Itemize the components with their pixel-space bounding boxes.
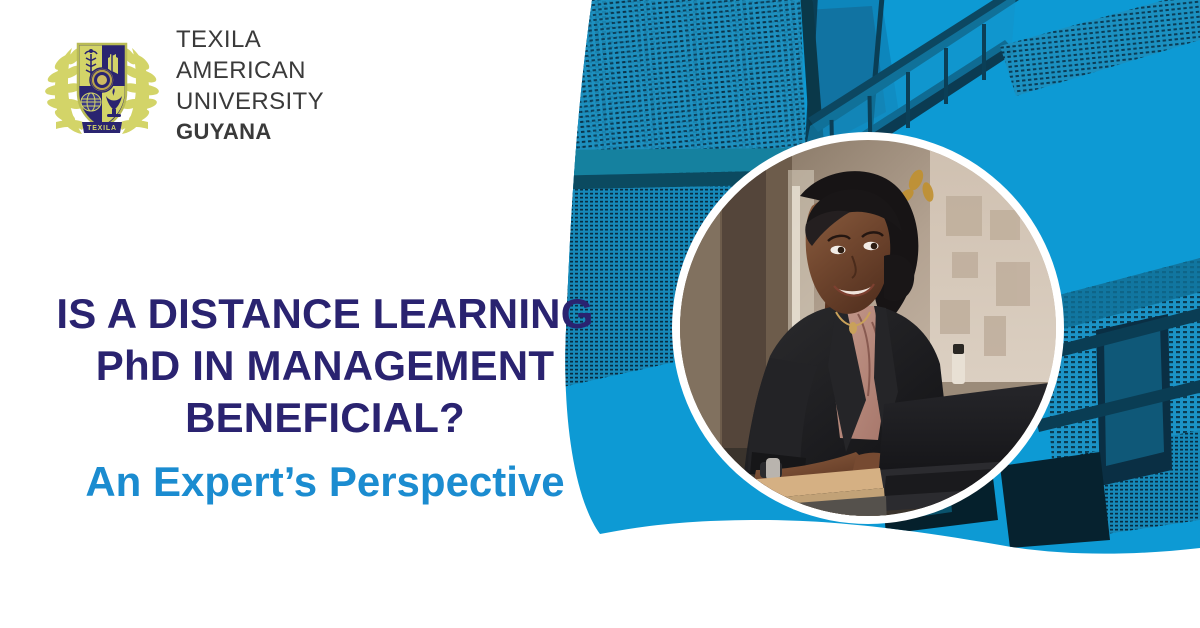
promo-banner: TEXILA TEXILA AMERICAN UNIVERSITY GUYANA… — [0, 0, 1200, 628]
brand-name-line-1: TEXILA — [176, 28, 324, 52]
brand-name-line-3: UNIVERSITY — [176, 90, 324, 114]
subtitle: An Expert’s Perspective — [0, 456, 650, 508]
crest-motto-text: TEXILA — [87, 125, 117, 132]
university-crest-icon: TEXILA — [42, 30, 162, 142]
brand-wordmark: TEXILA AMERICAN UNIVERSITY GUYANA — [176, 28, 324, 143]
brand-country-line: GUYANA — [176, 121, 324, 143]
brand-name-line-2: AMERICAN — [176, 59, 324, 83]
headline-block: IS A DISTANCE LEARNING PhD IN MANAGEMENT… — [0, 288, 650, 508]
headline-line-3: BENEFICIAL? — [0, 392, 650, 444]
headline-line-2: PhD IN MANAGEMENT — [0, 340, 650, 392]
brand-logo[interactable]: TEXILA TEXILA AMERICAN UNIVERSITY GUYANA — [42, 28, 324, 143]
portrait-circle — [672, 132, 1064, 572]
headline-line-1: IS A DISTANCE LEARNING — [0, 288, 650, 340]
